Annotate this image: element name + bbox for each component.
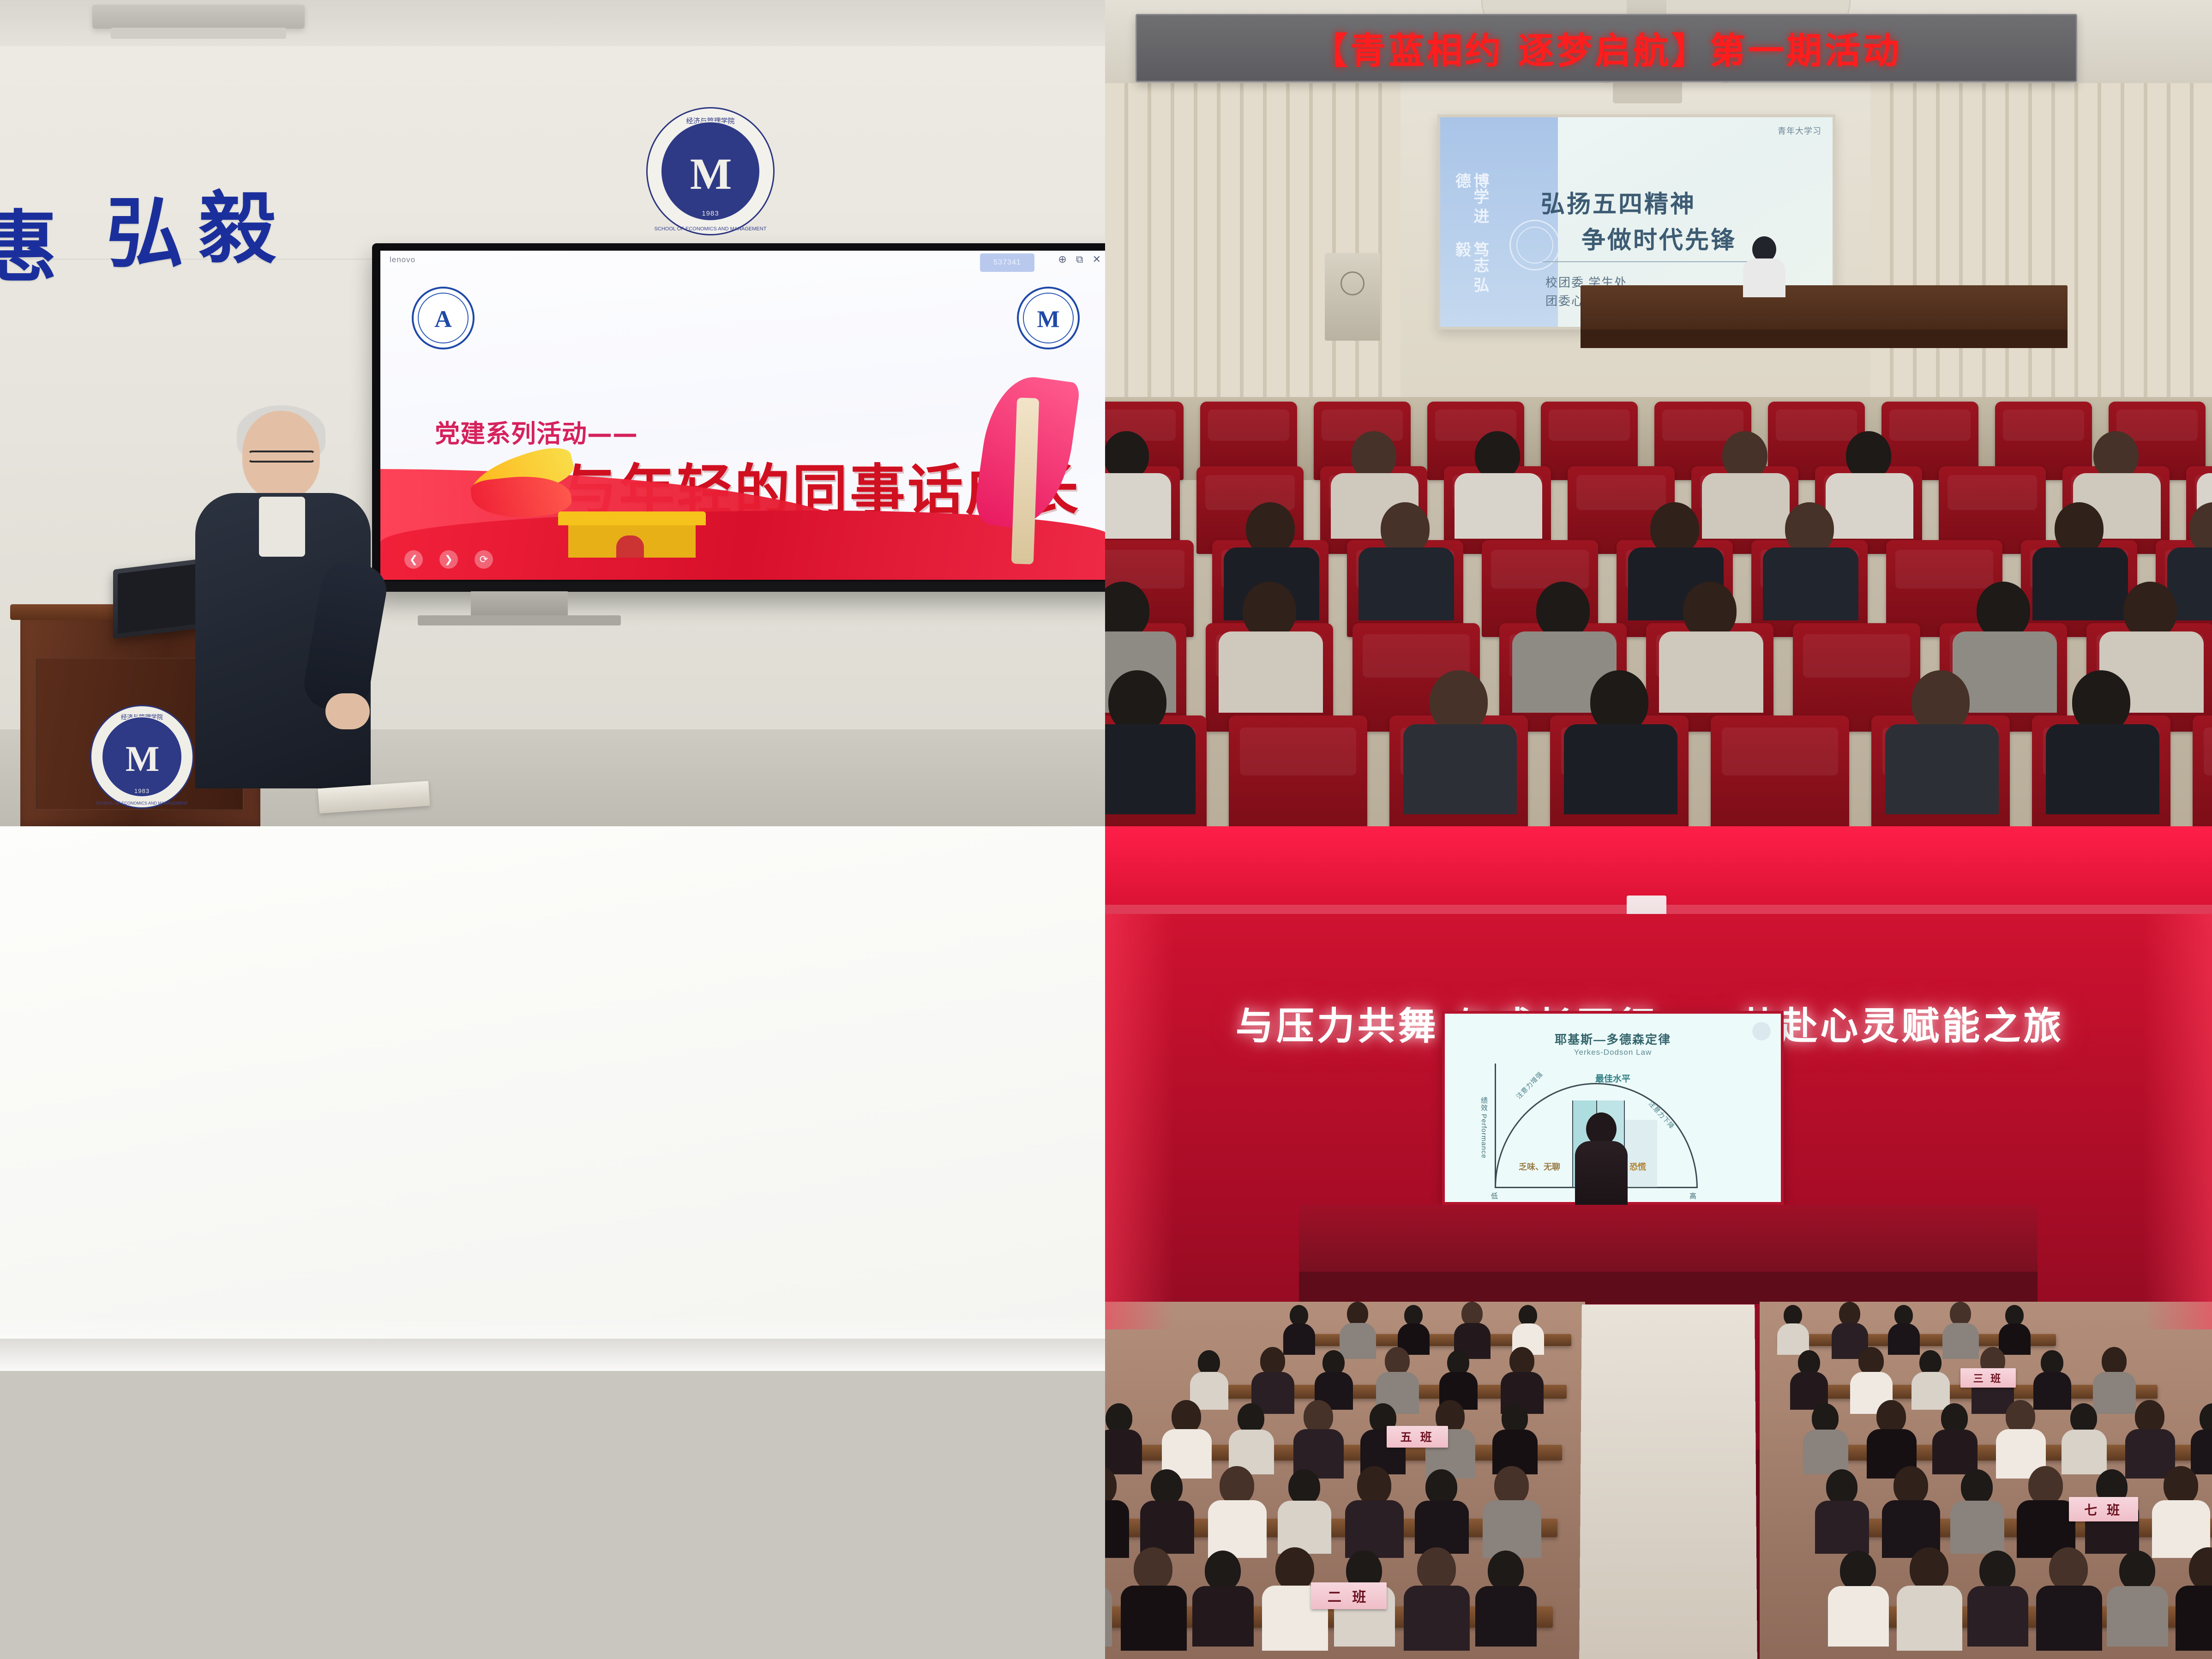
auditorium-seat [2193, 715, 2212, 826]
slide-corner-watermark-icon [1752, 1022, 1771, 1040]
next-slide-icon[interactable]: ❯ [439, 550, 458, 569]
audience-head [1108, 670, 1166, 733]
window-id-chip: 537341 [980, 253, 1034, 272]
photo-collage: 惠 弘 毅 经济与管理学院 M 1983 SCHOOL OF ECONOMICS… [0, 0, 2212, 1659]
audience-head [2123, 582, 2177, 639]
student-head [1288, 1469, 1320, 1505]
projection-title-line2: 争做时代先锋 [1581, 221, 1737, 255]
minimize-icon[interactable]: ⊕ [1058, 254, 1066, 264]
monument-pillar-art [970, 377, 1081, 580]
student-head [1425, 1469, 1457, 1505]
chart-title: 耶基斯—多德森定律 [1445, 1030, 1781, 1047]
panel-classical-culture-lecture: 相约同事 《中国诗词大会》第三季 冠军 雷海为 典籍里的中国 侠客行 · 致敬英… [0, 826, 1105, 1659]
student-torso [1192, 1586, 1254, 1647]
wall-calligraphy-char-2: 弘 [106, 171, 185, 283]
audience-torso [1358, 547, 1454, 620]
display-bezel [372, 582, 1105, 592]
student-torso [2093, 1372, 2135, 1414]
chart-low-arousal-annotation: 乏味、无聊 [1519, 1160, 1560, 1172]
student-head [1106, 1403, 1132, 1433]
student-head [1893, 1466, 1928, 1505]
audience-head [1246, 502, 1295, 555]
glasses-icon [248, 451, 315, 463]
lecture-stage-front [1299, 1272, 2038, 1304]
student-head [1798, 1350, 1820, 1375]
audience-head [2072, 670, 2130, 733]
student-torso [1942, 1323, 1979, 1359]
student-head [1322, 1350, 1345, 1375]
student-head [1826, 1469, 1858, 1505]
student-torso [1121, 1586, 1187, 1651]
stage-lectern [1325, 253, 1380, 341]
panel-party-building-lecture: 惠 弘 毅 经济与管理学院 M 1983 SCHOOL OF ECONOMICS… [0, 0, 1105, 826]
audience-torso [2032, 547, 2128, 620]
student-torso [2125, 1429, 2175, 1479]
audience-head [1650, 502, 1699, 555]
student-head [1519, 1305, 1538, 1326]
student-torso [2191, 1430, 2212, 1474]
stage-led-banner: 【青蓝相约 逐梦启航】第一期活动 [1136, 14, 2077, 82]
student-head [1858, 1347, 1883, 1375]
school-emblem-podium: 经济与管理学院 M 1983 SCHOOL OF ECONOMICS AND M… [90, 705, 194, 809]
window-controls[interactable]: ⊕ ⧉ ✕ [1058, 254, 1101, 264]
audience-torso [1403, 724, 1517, 814]
student-torso [2062, 1430, 2107, 1474]
student-head [1910, 1547, 1948, 1591]
class-sign: 七 班 [2069, 1497, 2138, 1521]
student-head [1198, 1350, 1220, 1375]
student-torso [2176, 1586, 2212, 1651]
chart-peak-annotation: 最佳水平 [1595, 1072, 1630, 1084]
student-head [2164, 1466, 2198, 1505]
prev-slide-icon[interactable]: ❮ [404, 550, 423, 569]
emblem-year: 1983 [702, 210, 719, 217]
student-head [2049, 1547, 2088, 1591]
student-torso [1208, 1500, 1267, 1558]
class-sign: 三 班 [1960, 1368, 2015, 1388]
student-torso [1888, 1323, 1920, 1355]
university-logo-glyph: A [434, 306, 452, 333]
center-aisle [1579, 1304, 1757, 1659]
chart-xtick-low: 低 [1491, 1191, 1498, 1201]
student-head [1238, 1403, 1264, 1433]
emblem-english-name: SCHOOL OF ECONOMICS AND MANAGEMENT [655, 226, 767, 232]
ceiling-rail-secondary [111, 28, 286, 39]
student-torso [1340, 1323, 1376, 1359]
student-head [2102, 1347, 2127, 1375]
audience-torso [1885, 724, 1999, 814]
audience-torso [1659, 631, 1763, 713]
podium-emblem-year: 1983 [134, 787, 150, 794]
student-torso [1828, 1586, 1889, 1647]
student-torso [1105, 1500, 1129, 1558]
student-head [1357, 1466, 1392, 1505]
student-torso [1815, 1501, 1869, 1554]
student-head [1385, 1347, 1410, 1375]
student-head [1260, 1347, 1285, 1375]
emblem-monogram: M [690, 155, 731, 193]
student-torso [2107, 1586, 2168, 1647]
student-torso [1777, 1323, 1809, 1355]
student-torso [1105, 1586, 1112, 1647]
slide-navigation[interactable]: ❮ ❯ ⟳ [404, 550, 493, 569]
student-head [1784, 1305, 1803, 1326]
student-head [2070, 1403, 2097, 1433]
audience-torso [1564, 724, 1677, 814]
student-torso [1475, 1586, 1537, 1647]
student-head [1876, 1400, 1906, 1433]
student-head [1347, 1302, 1369, 1326]
student-head [1290, 1305, 1309, 1326]
lecture-stage [1299, 1205, 2038, 1279]
student-head [1488, 1551, 1524, 1591]
auditorium-seat [1229, 715, 1367, 826]
student-head [1447, 1350, 1469, 1375]
student-torso [1415, 1501, 1469, 1554]
student-torso [1105, 1430, 1142, 1474]
presentation-slide: lenovo 537341 ⊕ ⧉ ✕ A M 党建系列活动—— 与年轻的同事话… [380, 251, 1105, 580]
refresh-icon[interactable]: ⟳ [475, 550, 493, 569]
stage-banner-text: 【青蓝相约 逐梦启航】第一期活动 [1311, 22, 1901, 74]
student-head [1151, 1469, 1183, 1505]
auditorium-seat [1711, 715, 1849, 826]
audience-torso [1105, 724, 1196, 814]
audience-torso [1455, 473, 1542, 539]
student-head [1275, 1547, 1314, 1591]
audience-head [1105, 431, 1149, 480]
student-torso [1999, 1323, 2031, 1355]
audience-head [2055, 502, 2104, 555]
projection-corner-logo: 青年大学习 [1778, 125, 1821, 137]
audience-head [1381, 502, 1430, 555]
audience-torso [2046, 724, 2159, 814]
student-torso [1932, 1430, 1978, 1474]
student-torso [1967, 1586, 2029, 1647]
close-icon[interactable]: ✕ [1093, 254, 1101, 264]
audience-head [1977, 582, 2030, 639]
student-head [1894, 1305, 1913, 1326]
class-sign: 五 班 [1387, 1426, 1448, 1448]
projection-surface [0, 826, 1105, 1339]
student-head [2119, 1551, 2155, 1591]
student-torso [1140, 1501, 1194, 1554]
wall-calligraphy-char-3: 毅 [198, 166, 277, 278]
audience-torso [1702, 473, 1790, 539]
podium-emblem-monogram: M [126, 744, 159, 774]
student-torso [1803, 1430, 1848, 1474]
audience-torso [1763, 547, 1858, 620]
audience-seating [1105, 397, 2212, 826]
student-torso [2036, 1586, 2102, 1651]
student-torso [2033, 1372, 2071, 1409]
seated-host [1742, 236, 1786, 292]
student-torso [1950, 1501, 2004, 1554]
audience-head [1243, 582, 1296, 639]
school-motto: 博学 进德 笃志 弘毅 [1452, 173, 1489, 297]
school-logo: M [1017, 287, 1080, 349]
student-head [1509, 1347, 1534, 1375]
chart-high-arousal-annotation: 恐慌 [1629, 1160, 1646, 1172]
student-head [1220, 1466, 1254, 1505]
student-head [1304, 1400, 1333, 1433]
student-head [1417, 1547, 1456, 1591]
lenovo-brandmark: lenovo [390, 255, 415, 264]
student-head [1404, 1305, 1423, 1326]
student-head [1961, 1469, 1993, 1505]
wall-calligraphy-char-1: 惠 [0, 185, 58, 297]
student-head [1840, 1551, 1876, 1591]
audience-torso [1105, 473, 1171, 539]
chart-rising-annotation: 注意力增强 [1514, 1070, 1545, 1101]
audience-head [1911, 670, 1970, 733]
student-head [2005, 1305, 2024, 1326]
audience-head [1846, 431, 1891, 480]
audience-head [1536, 582, 1590, 639]
audience-head [2093, 431, 2138, 480]
class-sign: 二 班 [1311, 1582, 1387, 1609]
student-torso [1404, 1586, 1470, 1651]
university-seal-icon [1509, 220, 1560, 270]
student-head [2041, 1350, 2063, 1375]
student-head [1172, 1400, 1201, 1433]
student-head [1979, 1551, 2015, 1591]
podium-emblem-english-name: SCHOOL OF ECONOMICS AND MANAGEMENT [96, 801, 188, 805]
student-torso [1897, 1586, 1963, 1651]
display-foot [418, 615, 621, 625]
speaker-person [187, 411, 381, 826]
screen-light-falloff [0, 1316, 1105, 1371]
student-head [1941, 1403, 1968, 1433]
audience-head [1590, 670, 1648, 733]
head-table-skirt [1581, 330, 2068, 348]
wall-slats-left [1105, 83, 1401, 415]
chart-subtitle: Yerkes-Dodson Law [1445, 1048, 1781, 1057]
projection-title-line1: 弘扬五四精神 [1541, 185, 1696, 219]
audience-head [1785, 502, 1834, 555]
student-head [2006, 1400, 2035, 1433]
student-head [1839, 1302, 1861, 1326]
student-head [2028, 1466, 2063, 1505]
student-head [1205, 1551, 1241, 1591]
student-head [1502, 1403, 1528, 1433]
student-head [2135, 1400, 2164, 1433]
student-head [1812, 1403, 1839, 1433]
wall-mounted-display[interactable]: lenovo 537341 ⊕ ⧉ ✕ A M 党建系列活动—— 与年轻的同事话… [372, 243, 1105, 592]
audience-head [1351, 431, 1396, 480]
wall-slats-right [1870, 83, 2212, 415]
student-head [1134, 1547, 1172, 1591]
student-head [1494, 1466, 1529, 1505]
motto-line-2: 笃志 弘毅 [1452, 241, 1489, 297]
audience-head [1683, 582, 1737, 639]
student-torso [1911, 1372, 1949, 1409]
maximize-icon[interactable]: ⧉ [1076, 254, 1083, 264]
audience-head [1430, 670, 1488, 733]
panel-auditorium-youth-forum: 【青蓝相约 逐梦启航】第一期活动 博学 进德 笃志 弘毅 弘扬五四精神 争做时代… [1105, 0, 2212, 826]
university-logo: A [412, 287, 475, 349]
school-emblem-wall: 经济与管理学院 M 1983 SCHOOL OF ECONOMICS AND M… [646, 107, 775, 235]
audience-torso [1219, 631, 1323, 713]
tiananmen-gate-art [558, 511, 706, 558]
school-logo-glyph: M [1037, 306, 1059, 333]
student-head [1919, 1350, 1942, 1375]
student-head [1461, 1302, 1483, 1326]
audience-torso [1826, 473, 1913, 539]
student-head [1950, 1302, 1972, 1326]
student-torso [1283, 1323, 1315, 1355]
student-torso [1345, 1500, 1404, 1558]
student-torso [1483, 1500, 1541, 1558]
slide-kicker: 党建系列活动—— [435, 413, 638, 450]
chart-xtick-high: 高 [1689, 1191, 1696, 1201]
audience-head [1475, 431, 1520, 480]
title-divider [1543, 261, 1755, 262]
ceiling-rail [92, 5, 305, 29]
panel-psychology-empowerment-lecture: 与压力共舞 与成长同行——共赴心灵赋能之旅 耶基斯—多德森定律 Yerkes-D… [1105, 826, 2212, 1659]
motto-line-1: 博学 进德 [1452, 173, 1489, 228]
audience-head [1722, 431, 1767, 480]
chart-y-axis-label: 绩效 Performance [1479, 1097, 1489, 1159]
student-torso [1278, 1501, 1332, 1554]
display-stand [471, 591, 568, 618]
